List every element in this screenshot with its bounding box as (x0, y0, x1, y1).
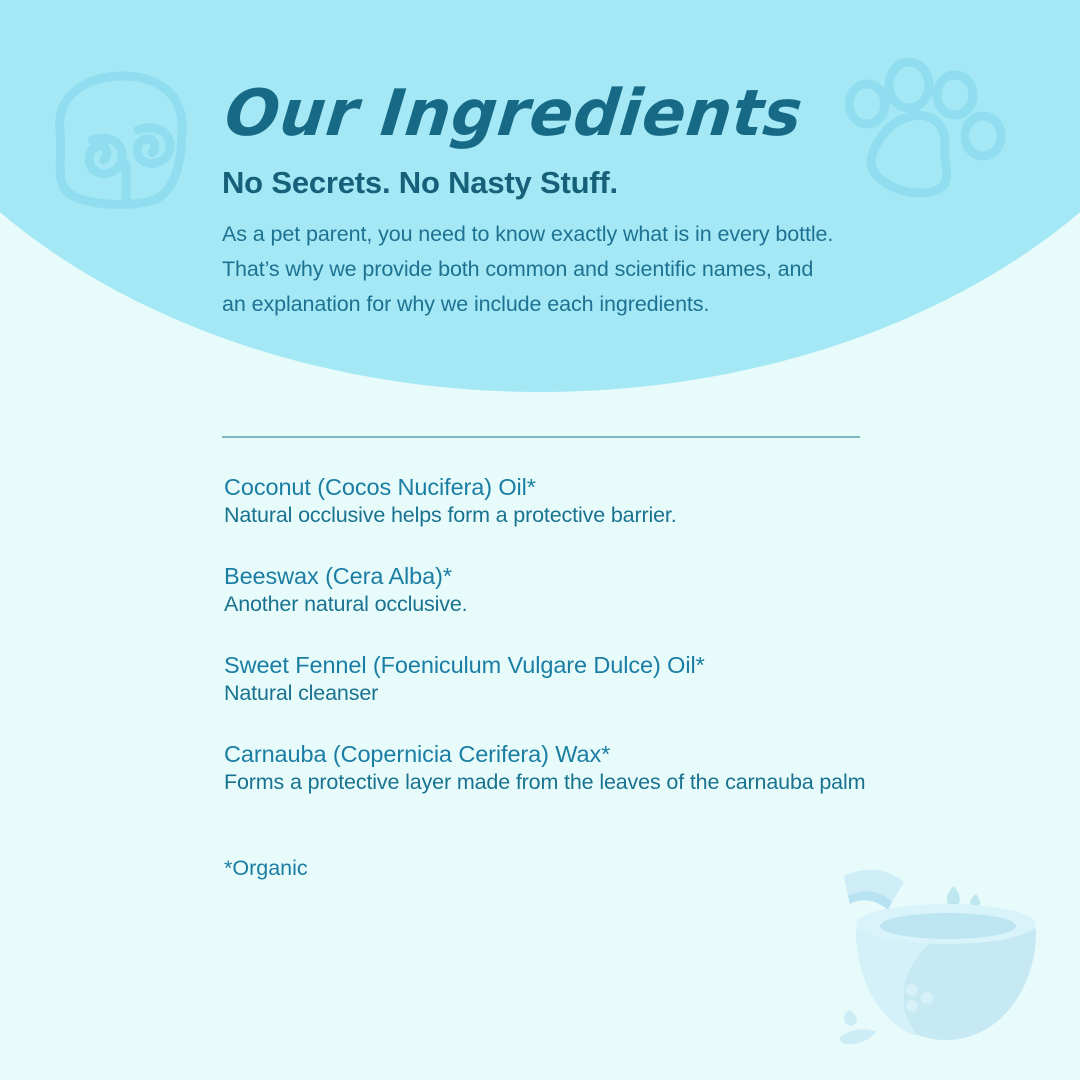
ingredient-name: Beeswax (Cera Alba)* (224, 561, 1024, 591)
header-text-block: Our Ingredients No Secrets. No Nasty Stu… (222, 0, 982, 322)
list-item: Sweet Fennel (Foeniculum Vulgare Dulce) … (224, 650, 1024, 708)
intro-line: As a pet parent, you need to know exactl… (222, 217, 982, 252)
ingredient-description: Another natural occlusive. (224, 591, 1024, 619)
ingredient-name: Carnauba (Copernicia Cerifera) Wax* (224, 739, 1024, 769)
intro-line: an explanation for why we include each i… (222, 287, 982, 322)
page-title: Our Ingredients (222, 0, 997, 146)
intro-line: That’s why we provide both common and sc… (222, 252, 982, 287)
ingredient-name: Coconut (Cocos Nucifera) Oil* (224, 472, 1024, 502)
ingredients-page: Our Ingredients No Secrets. No Nasty Stu… (0, 0, 1080, 1080)
ingredient-description: Forms a protective layer made from the l… (224, 769, 1024, 797)
page-subtitle: No Secrets. No Nasty Stuff. (222, 146, 982, 201)
coconut-illustration (826, 858, 1068, 1058)
list-item: Coconut (Cocos Nucifera) Oil* Natural oc… (224, 472, 1024, 530)
organic-footnote: *Organic (224, 828, 1024, 883)
intro-paragraph: As a pet parent, you need to know exactl… (222, 201, 982, 321)
ingredient-description: Natural cleanser (224, 680, 1024, 708)
ingredient-list: Coconut (Cocos Nucifera) Oil* Natural oc… (224, 472, 1024, 883)
ingredient-description: Natural occlusive helps form a protectiv… (224, 502, 1024, 530)
section-divider (222, 436, 860, 438)
ingredient-name: Sweet Fennel (Foeniculum Vulgare Dulce) … (224, 650, 1024, 680)
list-item: Beeswax (Cera Alba)* Another natural occ… (224, 561, 1024, 619)
list-item: Carnauba (Copernicia Cerifera) Wax* Form… (224, 739, 1024, 797)
